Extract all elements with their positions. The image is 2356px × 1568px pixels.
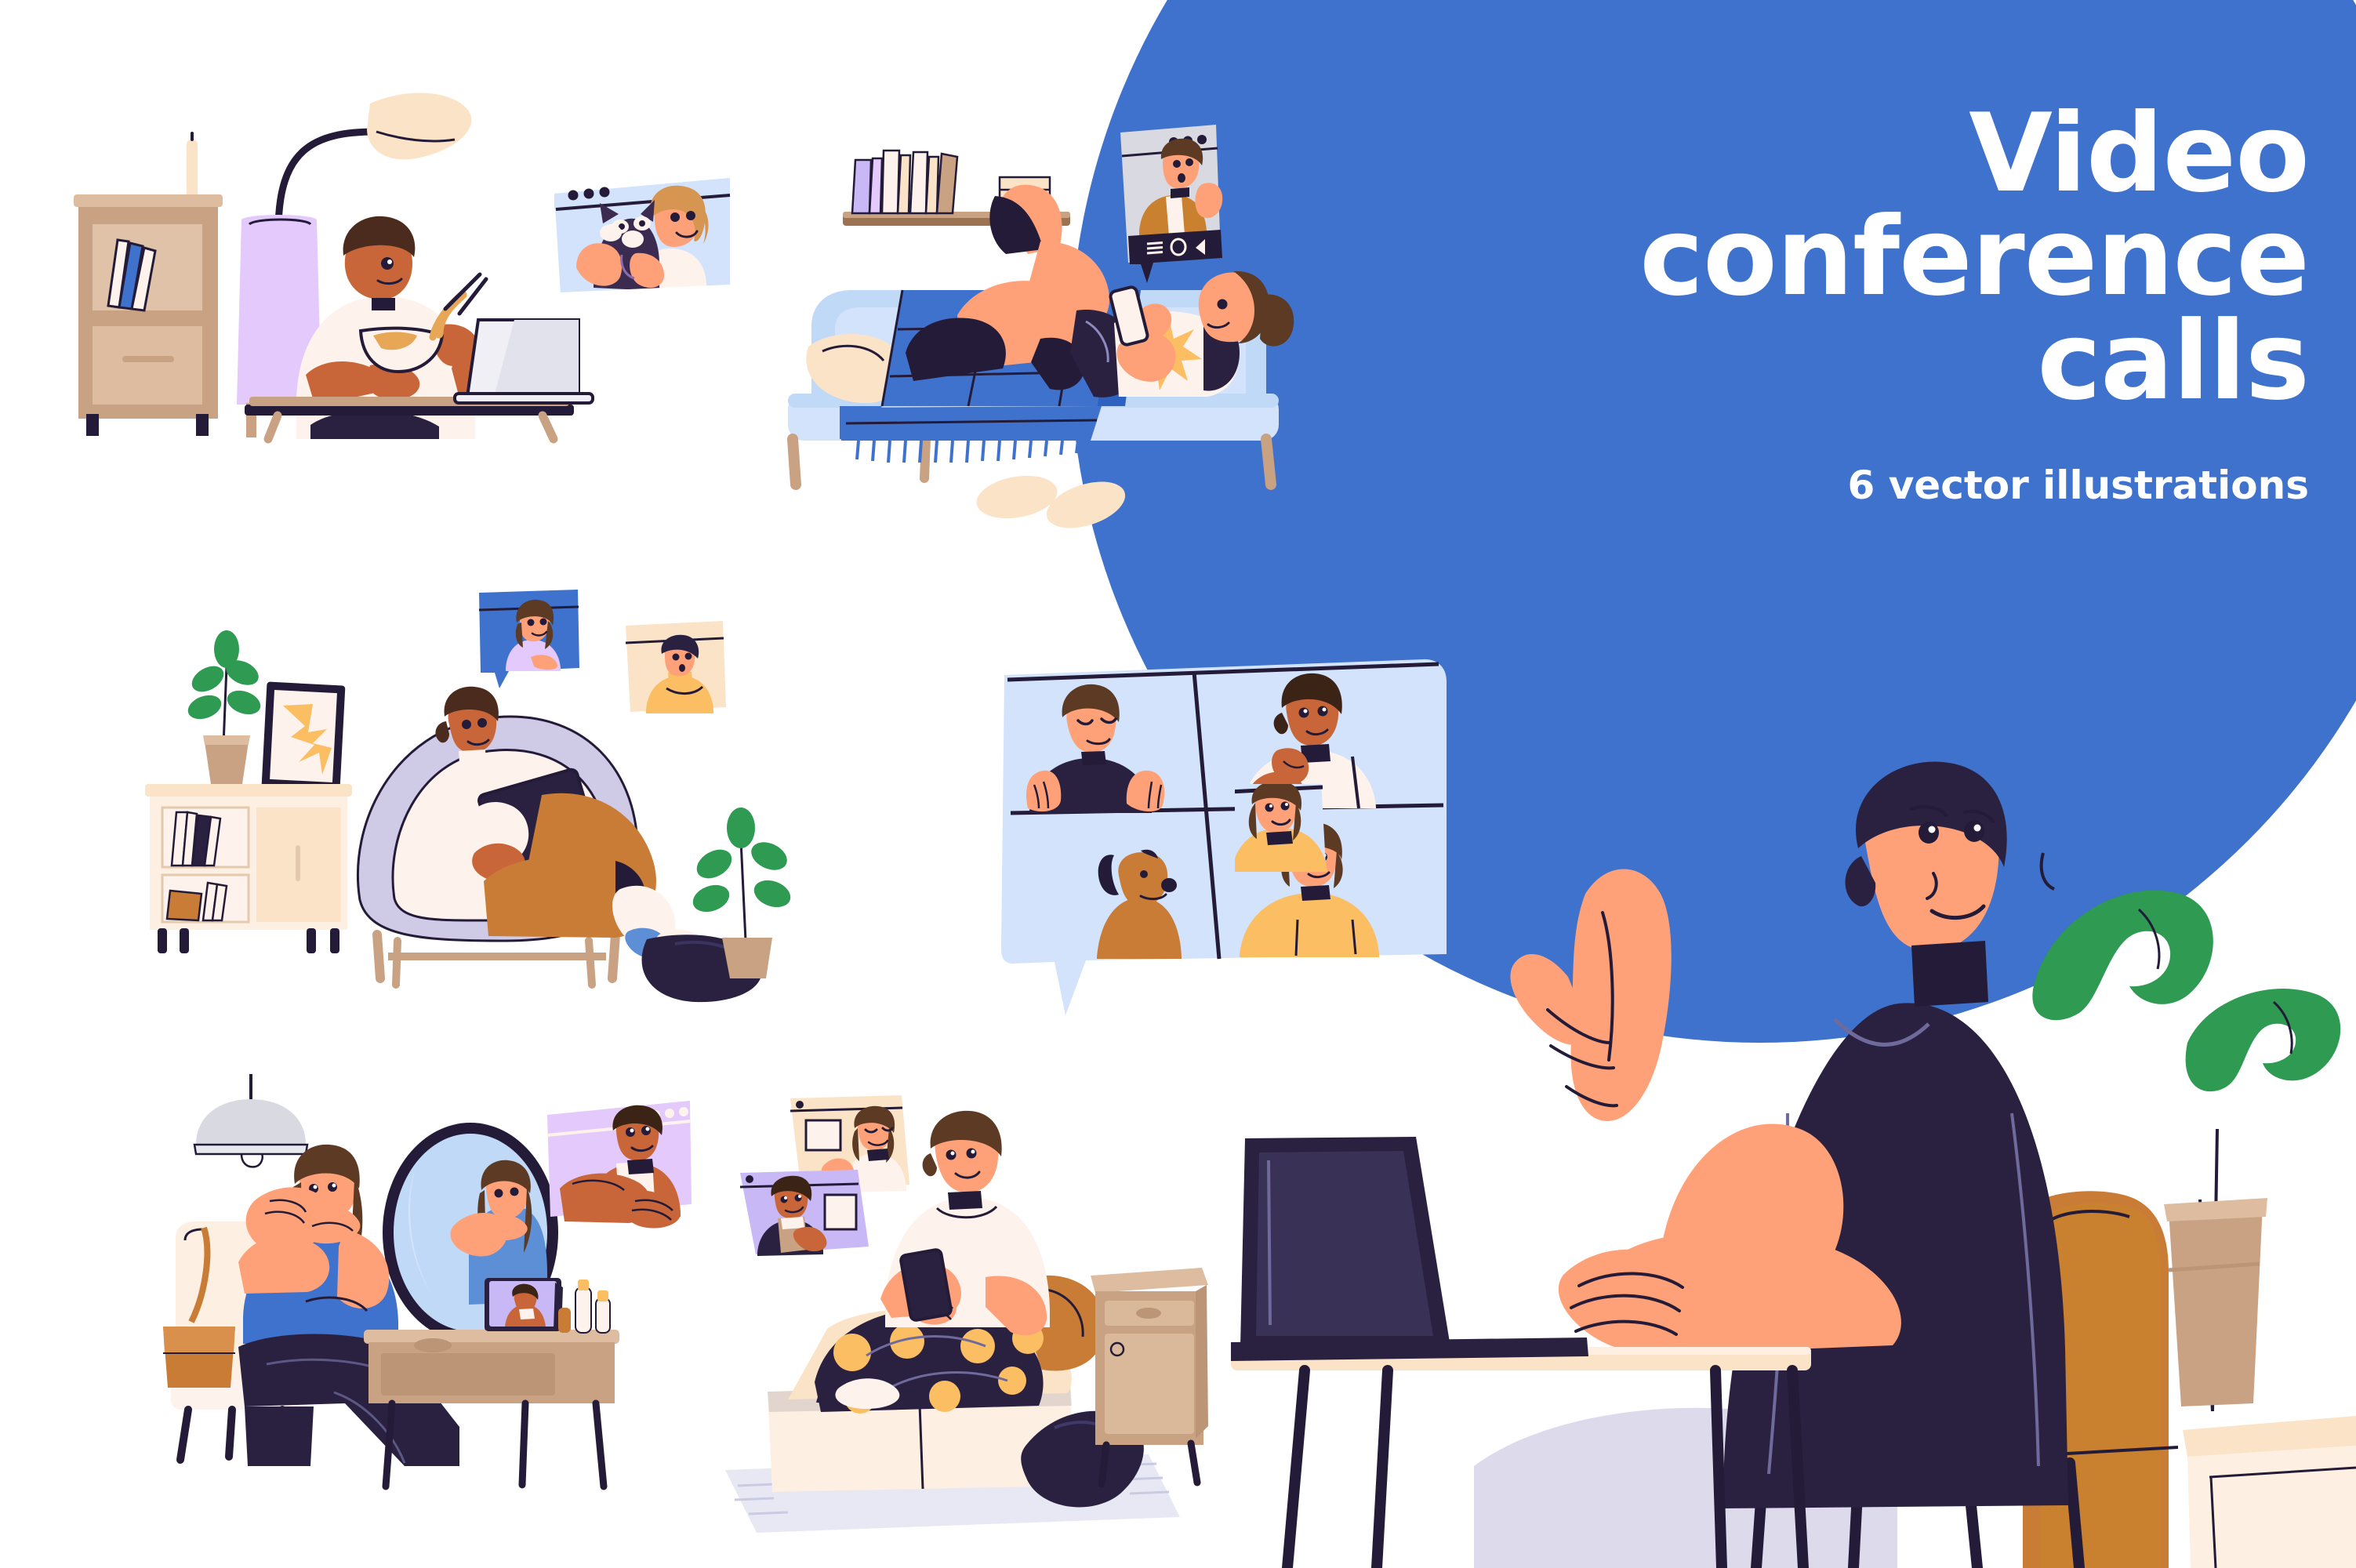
laptop-hero (1231, 1137, 1588, 1361)
title-line-2: conference (1478, 205, 2309, 309)
title-line-3: calls (1478, 310, 2309, 413)
video-window-waving-man[interactable] (1117, 122, 1227, 286)
video-window-dark-jacket-man[interactable] (735, 1168, 877, 1262)
video-window-cat-lady[interactable] (545, 169, 741, 302)
window-dot-icon (796, 1101, 804, 1109)
sideboard (74, 194, 223, 436)
cosmetics-bottles (558, 1279, 610, 1333)
video-window-tanktop-man[interactable] (541, 1098, 698, 1239)
hero-subtitle: 6 vector illustrations (1478, 463, 2309, 508)
video-window-lilac-woman[interactable] (474, 586, 584, 696)
illustration-sofa-call (764, 94, 1329, 494)
pendant-lamp (194, 1074, 307, 1167)
framed-picture (262, 681, 346, 790)
tablet-on-vanity (485, 1278, 563, 1331)
laptop (455, 320, 593, 403)
illustration-desk-call-hero (1239, 784, 2356, 1568)
window-dot-icon (746, 1175, 753, 1183)
video-window-yellow-hoodie-man[interactable] (619, 619, 729, 729)
title-line-1: Video (1478, 102, 2309, 205)
potted-plant-left (185, 630, 264, 784)
nightstand (1091, 1268, 1208, 1484)
poster-canvas: Video conference calls 6 vector illustra… (0, 0, 2356, 1568)
wall-ledge (2183, 1416, 2356, 1568)
sideboard-books (145, 784, 352, 953)
page-title: Video conference calls (1478, 102, 2309, 413)
video-window-yellow-woman-peek[interactable] (1235, 784, 1329, 878)
illustration-papasan-call (145, 549, 796, 988)
